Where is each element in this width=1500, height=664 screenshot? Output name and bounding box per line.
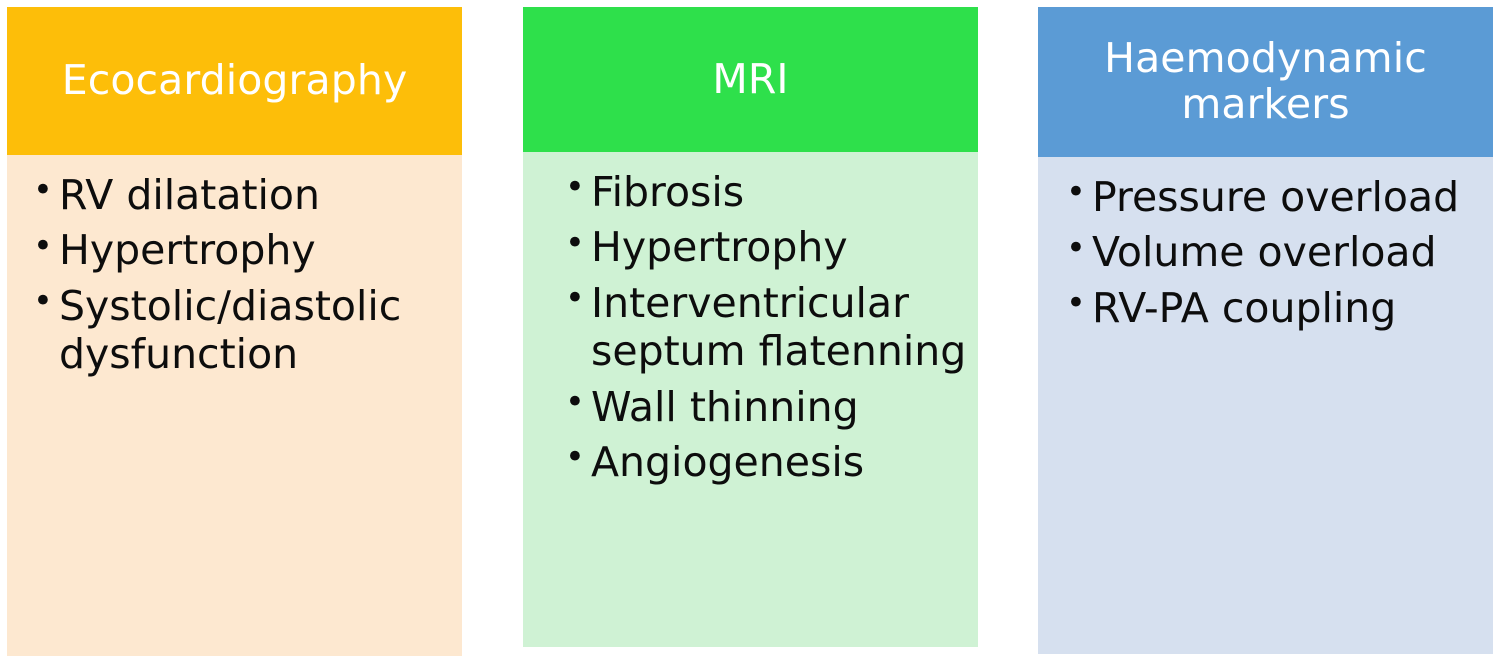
ecocardiography-feature-list: RV dilatation Hypertrophy Systolic/diast… <box>33 171 452 379</box>
list-item: Interventricular septum flatenning <box>565 279 968 376</box>
panel-mri-title: MRI <box>523 7 978 152</box>
list-item: Pressure overload <box>1066 173 1483 221</box>
panel-mri-body: Fibrosis Hypertrophy Interventricular se… <box>523 152 978 647</box>
list-item: Volume overload <box>1066 228 1483 276</box>
panel-ecocardiography: Ecocardiography RV dilatation Hypertroph… <box>7 7 462 656</box>
diagram-canvas: Ecocardiography RV dilatation Hypertroph… <box>0 0 1500 664</box>
panel-ecocardiography-body: RV dilatation Hypertrophy Systolic/diast… <box>7 155 462 656</box>
list-item: Fibrosis <box>565 168 968 216</box>
list-item: Hypertrophy <box>565 223 968 271</box>
panel-mri: MRI Fibrosis Hypertrophy Interventricula… <box>523 7 978 647</box>
list-item: Wall thinning <box>565 383 968 431</box>
list-item: RV dilatation <box>33 171 452 219</box>
panel-haemodynamic-markers: Haemodynamic markers Pressure overload V… <box>1038 7 1493 654</box>
panel-haemodynamic-markers-body: Pressure overload Volume overload RV-PA … <box>1038 157 1493 654</box>
list-item: Angiogenesis <box>565 438 968 486</box>
panel-ecocardiography-title: Ecocardiography <box>7 7 462 155</box>
list-item: Hypertrophy <box>33 226 452 274</box>
list-item: Systolic/diastolic dysfunction <box>33 282 452 379</box>
mri-feature-list: Fibrosis Hypertrophy Interventricular se… <box>565 168 968 486</box>
list-item: RV-PA coupling <box>1066 284 1483 332</box>
panel-haemodynamic-markers-title: Haemodynamic markers <box>1038 7 1493 157</box>
haemodynamic-feature-list: Pressure overload Volume overload RV-PA … <box>1066 173 1483 332</box>
